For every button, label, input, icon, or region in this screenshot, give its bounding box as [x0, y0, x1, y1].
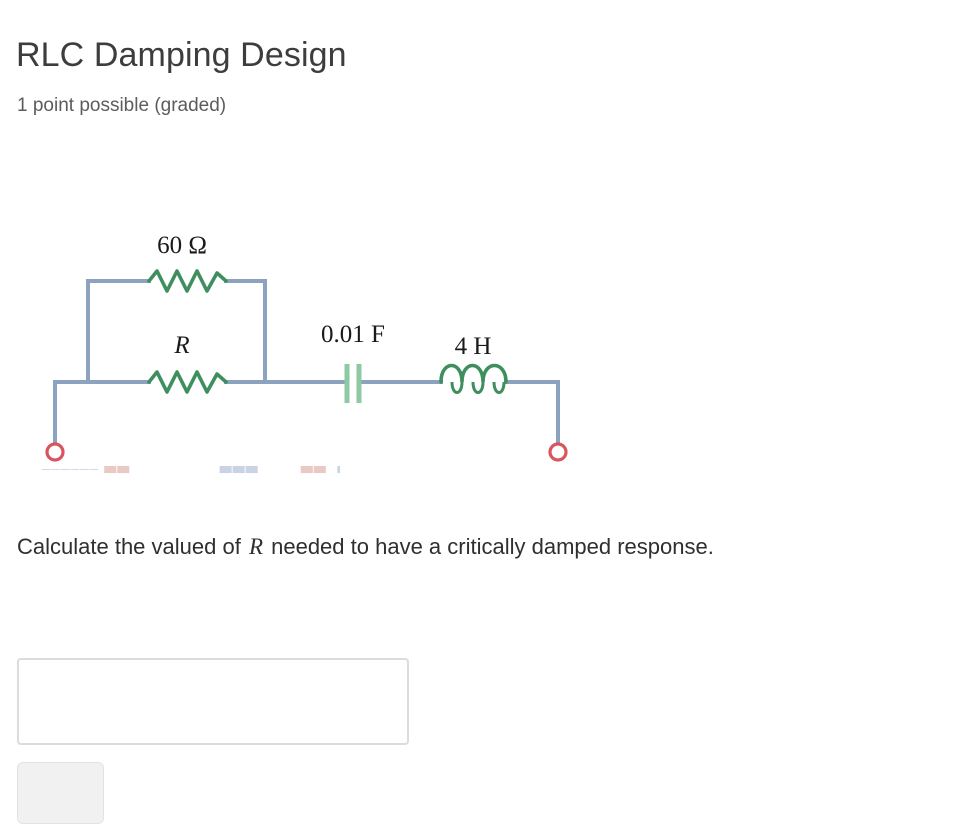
answer-input[interactable] [17, 658, 409, 745]
inductor-symbol [441, 366, 506, 393]
resistor-60-ohm-symbol [149, 271, 226, 291]
terminal-right-icon [550, 444, 566, 460]
problem-page: RLC Damping Design 1 point possible (gra… [0, 0, 976, 838]
question-prompt: Calculate the valued of R needed to have… [17, 528, 937, 565]
question-text-before: Calculate the valued of [17, 534, 247, 559]
capacitor-symbol [347, 364, 359, 403]
label-resistor-60-ohm: 60 Ω [157, 232, 207, 259]
terminal-left-icon [47, 444, 63, 460]
resistor-r-symbol [149, 372, 226, 392]
label-inductor: 4 H [455, 333, 492, 360]
page-title: RLC Damping Design [16, 33, 347, 77]
circuit-diagram: 60 Ω R 0.01 F 4 H [0, 170, 640, 490]
label-capacitor: 0.01 F [321, 321, 385, 348]
label-resistor-r: R [173, 332, 189, 359]
circuit-wires [55, 281, 558, 446]
point-status-label: 1 point possible (graded) [17, 93, 226, 119]
question-text-after: needed to have a critically damped respo… [265, 534, 714, 559]
submit-button[interactable] [17, 762, 104, 824]
question-variable-r: R [247, 534, 265, 559]
circuit-svg: 60 Ω R 0.01 F 4 H [0, 170, 640, 490]
